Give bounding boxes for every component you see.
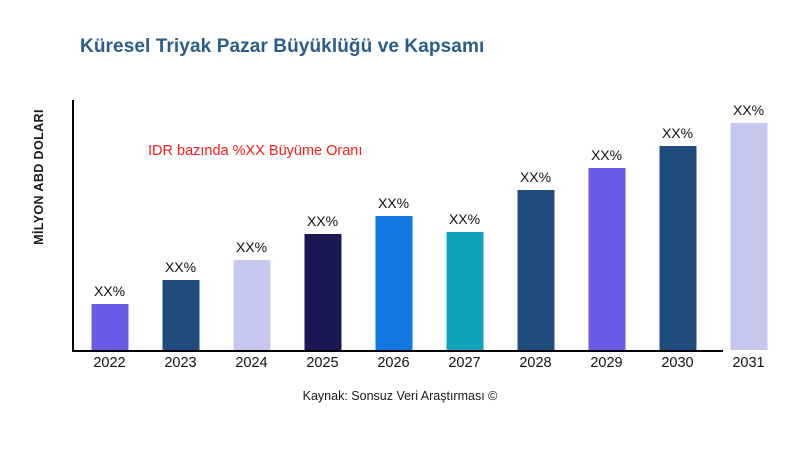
y-axis-label-wrap: MİLYON ABD DOLARI (0, 60, 40, 320)
bar-2030[interactable] (659, 146, 696, 350)
xtick-2023: 2023 (145, 355, 216, 371)
bar-slot: XX% (500, 100, 571, 350)
bar-slot: XX% (571, 100, 642, 350)
bar-value-label: XX% (591, 148, 622, 162)
x-axis-line (72, 350, 723, 352)
xtick-2028: 2028 (500, 355, 571, 371)
bar-value-label: XX% (94, 284, 125, 298)
xtick-2031: 2031 (713, 355, 784, 371)
bar-2028[interactable] (517, 190, 554, 350)
page-title: Küresel Triyak Pazar Büyüklüğü ve Kapsam… (80, 36, 484, 58)
bar-value-label: XX% (449, 212, 480, 226)
x-axis-tick-labels: 2022 2023 2024 2025 2026 2027 2028 2029 … (74, 355, 792, 381)
bar-value-label: XX% (165, 260, 196, 274)
xtick-2024: 2024 (216, 355, 287, 371)
bar-2029[interactable] (588, 168, 625, 350)
bar-slot: XX% (358, 100, 429, 350)
bar-value-label: XX% (662, 126, 693, 140)
bar-slot: XX% (216, 100, 287, 350)
bar-slot: XX% (287, 100, 358, 350)
bar-value-label: XX% (733, 103, 764, 117)
plot-area: XX% XX% XX% XX% XX% XX% XX% XX% (74, 100, 792, 350)
bar-value-label: XX% (520, 170, 551, 184)
bar-2022[interactable] (91, 304, 128, 350)
xtick-2025: 2025 (287, 355, 358, 371)
xtick-2027: 2027 (429, 355, 500, 371)
xtick-2026: 2026 (358, 355, 429, 371)
bar-value-label: XX% (236, 240, 267, 254)
y-axis-label: MİLYON ABD DOLARI (32, 52, 46, 302)
bar-2023[interactable] (162, 280, 199, 350)
bar-slot: XX% (713, 100, 784, 350)
xtick-2022: 2022 (74, 355, 145, 371)
bar-value-label: XX% (378, 196, 409, 210)
chart-container: Küresel Triyak Pazar Büyüklüğü ve Kapsam… (0, 0, 800, 450)
bar-slot: XX% (74, 100, 145, 350)
bar-2026[interactable] (375, 216, 412, 350)
bar-slot: XX% (429, 100, 500, 350)
bar-2027[interactable] (446, 232, 483, 350)
bar-slot: XX% (642, 100, 713, 350)
bar-2025[interactable] (304, 234, 341, 350)
bar-2024[interactable] (233, 260, 270, 350)
bar-slot: XX% (145, 100, 216, 350)
bar-2031[interactable] (730, 123, 767, 350)
bar-value-label: XX% (307, 214, 338, 228)
xtick-2030: 2030 (642, 355, 713, 371)
xtick-2029: 2029 (571, 355, 642, 371)
source-caption: Kaynak: Sonsuz Veri Araştırması © (0, 389, 800, 403)
